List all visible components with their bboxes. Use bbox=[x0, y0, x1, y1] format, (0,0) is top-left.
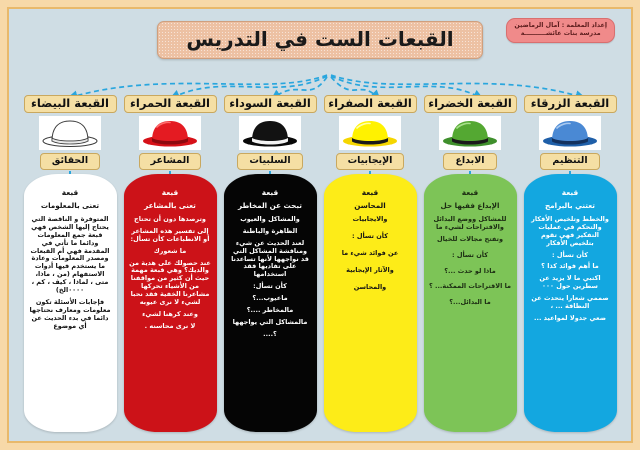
card-question: صممي شعارا يتحدث عن النظافة ... ، bbox=[529, 295, 612, 311]
hat-column-blue[interactable]: القبعة الزرقاء التنظيم bbox=[524, 95, 617, 187]
hat-role-green: الابداع bbox=[443, 153, 496, 169]
card-question: ضعي جدولا لمواعيد ... bbox=[529, 315, 612, 323]
card-question: ما البدائل...؟ bbox=[429, 299, 512, 307]
hat-name-red: القبعة الحمراء bbox=[124, 95, 217, 113]
card-question: كأن تسأل : bbox=[429, 252, 512, 260]
hat-column-red[interactable]: القبعة الحمراء المشاعر bbox=[124, 95, 217, 187]
card-question: مالمخاطر ....؟ bbox=[229, 307, 312, 315]
card-body-line: ما شعورك bbox=[129, 248, 212, 256]
hat-card-red: قبعة تعنى بالمشاعر وترصدها دون أن تحتاج … bbox=[124, 174, 217, 432]
card-question: اكتبي ما لا يزيد عن سطرين حول ٠٠٠ bbox=[529, 275, 612, 291]
card-lead: الإبداع ففيها حل bbox=[429, 202, 512, 211]
card-body-line: والمشاكل والعيوب bbox=[229, 216, 312, 224]
hat-name-blue: القبعة الزرقاء bbox=[524, 95, 617, 113]
card-question: ما الاقتراحات الممكنة... ؟ bbox=[429, 283, 512, 291]
green-hat-icon bbox=[439, 116, 501, 150]
card-body-line: لا نرى محاسنه . bbox=[129, 323, 212, 331]
card-body-line: للمشاكل ووضع البدائل والاقتراحات لشيء ما bbox=[429, 216, 512, 232]
card-body-line: فإجابات الأسئلة تكون معلومات ومعارف نحتا… bbox=[29, 299, 112, 331]
hat-role-yellow: الإيجابيات bbox=[336, 153, 405, 169]
card-body-line: وتفتح مجالات للخيال bbox=[429, 236, 512, 244]
card-lead: تعنى بالمشاعر bbox=[129, 202, 212, 211]
hat-column-green[interactable]: القبعة الخضراء الابداع bbox=[424, 95, 517, 187]
hat-column-black[interactable]: القبعة السوداء السلبيات bbox=[224, 95, 317, 187]
hat-role-red: المشاعر bbox=[139, 153, 202, 169]
poster-frame: إعداد المعلمة : آمال الرماضين مدرسة بنات… bbox=[0, 0, 640, 450]
hat-role-black: السلبيات bbox=[237, 153, 302, 169]
card-lead: تبحث عن المخاطر bbox=[229, 202, 312, 211]
card-body-line: إلى تفسير هذه المشاعر أو الانطباعات كأن … bbox=[129, 228, 212, 244]
card-keyword: قبعة bbox=[229, 188, 312, 197]
white-hat-icon bbox=[39, 116, 101, 150]
card-question: مالمشاكل التي يواجهها bbox=[229, 319, 312, 327]
card-body-line: عند حصولك على هدية من والديك؟ وهي قبعة م… bbox=[129, 260, 212, 308]
card-question: ماذا لو حدث ...؟ bbox=[429, 268, 512, 276]
card-body-line: والخطط وتلخيص الأفكار والتحكم في عمليات … bbox=[529, 216, 612, 248]
card-body-line: الظاهرة والباطنة bbox=[229, 228, 312, 236]
hat-content-row: قبعة تعنى بالمعلومات المتوفرة و الناقصة … bbox=[9, 174, 631, 432]
hat-role-blue: التنظيم bbox=[540, 153, 599, 169]
card-keyword: قبعة bbox=[429, 188, 512, 197]
hat-role-white: الحقائق bbox=[40, 153, 100, 169]
black-hat-icon bbox=[239, 116, 301, 150]
poster-canvas: إعداد المعلمة : آمال الرماضين مدرسة بنات… bbox=[7, 7, 633, 443]
card-body-line: وعند كرهنا لشيء bbox=[129, 311, 212, 319]
card-body-line: لعند الحديث عن شيء ومناقشة المشاكل التي … bbox=[229, 240, 312, 280]
hat-name-black: القبعة السوداء bbox=[224, 95, 317, 113]
card-question: كأن تسأل : bbox=[329, 233, 412, 241]
card-lead: تعنى بالمعلومات bbox=[29, 202, 112, 211]
card-body-line: المتوفرة و الناقصة التي يحتاج إليها الشخ… bbox=[29, 216, 112, 295]
hat-card-white: قبعة تعنى بالمعلومات المتوفرة و الناقصة … bbox=[24, 174, 117, 432]
card-keyword: قبعة bbox=[329, 188, 412, 197]
card-lead: المحاسن bbox=[329, 202, 412, 211]
hat-card-yellow: قبعة المحاسن والايجابيات كأن تسأل : عن ف… bbox=[324, 174, 417, 432]
hat-card-blue: قبعة تعتني بالبرامج والخطط وتلخيص الأفكا… bbox=[524, 174, 617, 432]
card-lead: تعتني بالبرامج bbox=[529, 202, 612, 211]
card-question: والمحاسن bbox=[329, 284, 412, 292]
card-keyword: قبعة bbox=[529, 188, 612, 197]
hat-column-yellow[interactable]: القبعة الصفراء الإيجابيات bbox=[324, 95, 417, 187]
card-question: كأن تسأل: bbox=[229, 283, 312, 291]
hat-card-black: قبعة تبحث عن المخاطر والمشاكل والعيوب ال… bbox=[224, 174, 317, 432]
yellow-hat-icon bbox=[339, 116, 401, 150]
hat-name-green: القبعة الخضراء bbox=[424, 95, 517, 113]
card-question: كأن تسأل : bbox=[529, 252, 612, 260]
hat-column-white[interactable]: القبعة البيضاء الحقائق bbox=[24, 95, 117, 187]
card-keyword: قبعة bbox=[129, 188, 212, 197]
blue-hat-icon bbox=[539, 116, 601, 150]
card-question: عن فوائد شيء ما bbox=[329, 250, 412, 258]
card-body-line: والايجابيات bbox=[329, 216, 412, 224]
card-question: ؟.... bbox=[229, 331, 312, 339]
red-hat-icon bbox=[139, 116, 201, 150]
card-question: والآثار الإيجابية bbox=[329, 267, 412, 275]
hat-name-white: القبعة البيضاء bbox=[24, 95, 117, 113]
hat-header-row: القبعة البيضاء الحقائق القبعة الحمراء bbox=[9, 95, 631, 187]
card-question: ماعيوب...؟ bbox=[229, 295, 312, 303]
hat-card-green: قبعة الإبداع ففيها حل للمشاكل ووضع البدا… bbox=[424, 174, 517, 432]
hat-name-yellow: القبعة الصفراء bbox=[324, 95, 417, 113]
card-question: ما أهم فوائد كذا ؟ bbox=[529, 263, 612, 271]
card-body-line: وترصدها دون أن تحتاج bbox=[129, 216, 212, 224]
card-keyword: قبعة bbox=[29, 188, 112, 197]
